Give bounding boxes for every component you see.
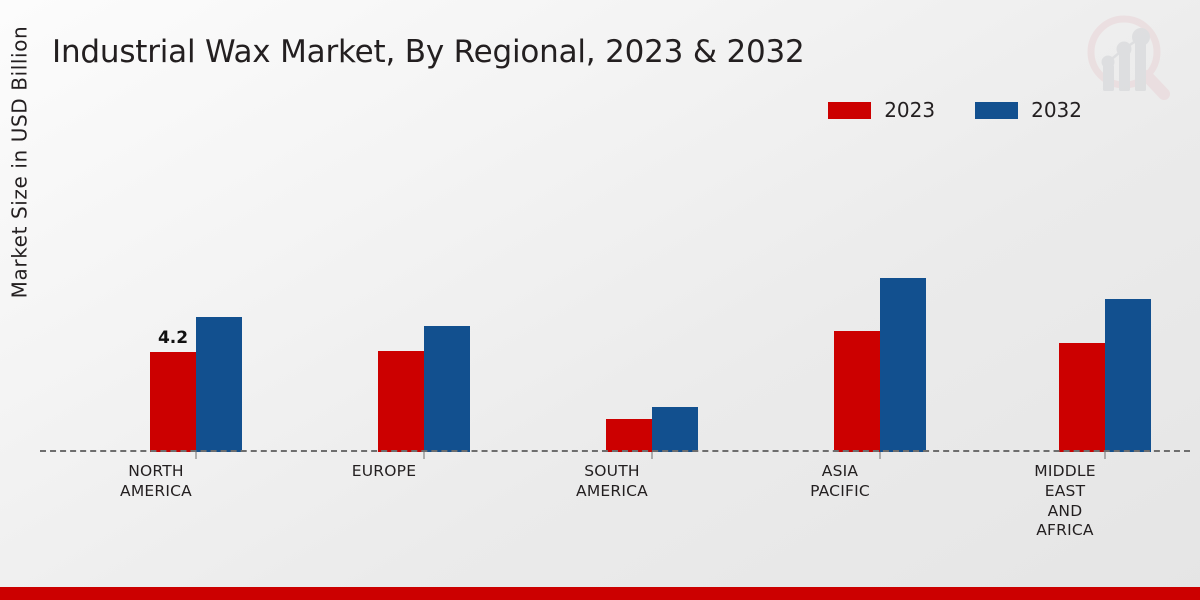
bar-2032-asia-pacific[interactable] xyxy=(880,278,926,452)
plot-area: 4.2 xyxy=(40,130,1190,452)
bar-group-north-america: 4.2 xyxy=(150,317,242,452)
x-axis-label-line: AFRICA xyxy=(980,521,1150,541)
x-axis-label-line: AMERICA xyxy=(71,482,241,502)
bar-2032-europe[interactable] xyxy=(424,326,470,452)
legend-swatch-2032 xyxy=(975,102,1018,119)
x-tick-asia-pacific xyxy=(880,452,881,459)
bar-2032-north-america[interactable] xyxy=(196,317,242,452)
magnifier-bar-chart-watermark-icon xyxy=(1074,8,1178,104)
legend-label-2032: 2032 xyxy=(1031,100,1082,120)
x-axis-label-line: ASIA xyxy=(755,462,925,482)
x-axis-label-line: MIDDLE xyxy=(980,462,1150,482)
bar-2023-asia-pacific[interactable] xyxy=(834,331,880,452)
bar-2032-middle-east-and-africa[interactable] xyxy=(1105,299,1151,452)
bar-2023-south-america[interactable] xyxy=(606,419,652,452)
legend-item-2032[interactable]: 2032 xyxy=(975,100,1082,120)
chart-container: Industrial Wax Market, By Regional, 2023… xyxy=(0,0,1200,600)
bar-group-asia-pacific xyxy=(834,278,926,452)
x-axis-label-middle-east-and-africa: MIDDLE EAST AND AFRICA xyxy=(980,462,1150,541)
x-axis-label-line: AND xyxy=(980,502,1150,522)
legend-item-2023[interactable]: 2023 xyxy=(828,100,935,120)
x-tick-middle-east-and-africa xyxy=(1105,452,1106,459)
x-axis-label-europe: EUROPE xyxy=(299,462,469,482)
x-axis-baseline xyxy=(40,450,1190,452)
x-axis-label-north-america: NORTH AMERICA xyxy=(71,462,241,502)
chart-legend: 2023 2032 xyxy=(828,100,1082,120)
legend-label-2023: 2023 xyxy=(884,100,935,120)
x-axis-label-line: PACIFIC xyxy=(755,482,925,502)
x-tick-north-america xyxy=(196,452,197,459)
bar-2032-south-america[interactable] xyxy=(652,407,698,452)
bar-group-europe xyxy=(378,326,470,452)
x-axis-label-south-america: SOUTH AMERICA xyxy=(527,462,697,502)
bar-2023-europe[interactable] xyxy=(378,351,424,452)
x-axis-label-line: AMERICA xyxy=(527,482,697,502)
x-axis-label-asia-pacific: ASIA PACIFIC xyxy=(755,462,925,502)
bar-group-south-america xyxy=(606,407,698,452)
x-tick-europe xyxy=(424,452,425,459)
bottom-accent-strip xyxy=(0,587,1200,600)
x-axis-label-line: EAST xyxy=(980,482,1150,502)
y-axis-title-text: Market Size in USD Billion xyxy=(7,26,31,299)
x-tick-south-america xyxy=(652,452,653,459)
legend-swatch-2023 xyxy=(828,102,871,119)
bar-group-middle-east-and-africa xyxy=(1059,299,1151,452)
x-axis-label-line: NORTH xyxy=(71,462,241,482)
y-axis-title: Market Size in USD Billion xyxy=(2,150,36,480)
x-axis-label-line: EUROPE xyxy=(299,462,469,482)
x-axis-label-line: SOUTH xyxy=(527,462,697,482)
bar-value-label-north-america-2023: 4.2 xyxy=(158,328,188,348)
bar-2023-middle-east-and-africa[interactable] xyxy=(1059,343,1105,452)
bar-2023-north-america[interactable]: 4.2 xyxy=(150,352,196,452)
page-title: Industrial Wax Market, By Regional, 2023… xyxy=(52,34,805,70)
